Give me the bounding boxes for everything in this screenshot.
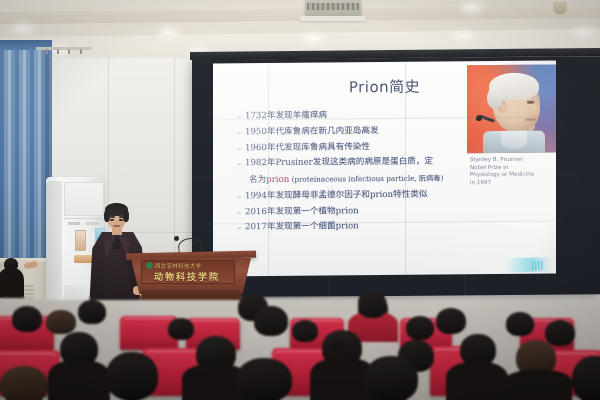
audience-head <box>436 308 466 334</box>
slide-watermark-bars <box>532 261 544 270</box>
audience-head <box>364 356 418 400</box>
portrait-nose <box>531 105 540 116</box>
air-conditioner-grille-icon <box>64 182 104 216</box>
bullet-text-continuation: 名为prion (proteinaceous infectious partic… <box>249 172 489 187</box>
audience-head <box>358 292 387 318</box>
slide-bullet-list: – 1732年发现羊瘙痒病 – 1950年代库鲁病在新几内亚岛高发 – 1960… <box>237 109 489 238</box>
screen-tile-seam <box>268 63 269 276</box>
bullet-text: 1994年发现酵母非孟德尔因子和prion特性类似 <box>245 189 489 203</box>
bullet-text-post: (proteinaceous infectious particle, 朊病毒) <box>289 174 443 184</box>
audience-shoulders <box>446 362 508 400</box>
bullet-text: 1960年代发现库鲁病具有传染性 <box>245 141 489 155</box>
ceiling-light <box>575 30 592 35</box>
bullet-dash-icon: – <box>237 127 241 139</box>
curtain-hook-icon <box>68 49 70 54</box>
bullet-text-pre: 名为 <box>249 175 266 185</box>
ceiling-light <box>160 30 177 35</box>
ceiling-light <box>305 36 322 41</box>
list-item: – 1960年代发现库鲁病具有传染性 <box>237 141 489 155</box>
list-item: – 1732年发现羊瘙痒病 <box>237 109 489 123</box>
audience-head <box>78 300 106 324</box>
audience-head <box>46 310 76 334</box>
speaker-hair-right <box>123 210 129 222</box>
audience-head <box>254 306 288 336</box>
curtain-hook-icon <box>57 49 59 54</box>
microphone-capsule-icon <box>174 236 179 241</box>
podium-college-name: 动物科技学院 <box>141 270 233 283</box>
bullet-dash-icon: – <box>237 143 241 155</box>
audience-head <box>506 312 534 336</box>
audience-head <box>545 320 575 346</box>
bullet-dash-icon: – <box>237 223 241 235</box>
audience-head <box>236 358 292 400</box>
audience-shoulders <box>48 360 110 400</box>
photo-caption: Stanley B. Prusiner Nobel Prize in Physi… <box>467 154 556 189</box>
bullet-dash-icon: – <box>237 159 241 171</box>
curtain-shading <box>0 40 52 290</box>
list-item: – 1950年代库鲁病在新几内亚岛高发 <box>237 125 489 139</box>
speaker-hair-left <box>104 210 110 222</box>
bullet-text: 2016年发现第一个植物prion <box>245 205 489 219</box>
portrait-hair-side <box>487 87 503 109</box>
list-item-continuation: 名为prion (proteinaceous infectious partic… <box>237 172 489 187</box>
slide-watermark <box>506 258 552 272</box>
university-crest-icon <box>146 262 153 269</box>
curtain-rail <box>36 47 92 50</box>
audience-head <box>106 352 158 400</box>
bullet-highlight-term: prion <box>266 175 289 185</box>
caption-line: in 1997 <box>470 179 556 187</box>
bullet-dash-icon: – <box>237 191 241 203</box>
audience-head <box>168 318 194 340</box>
audience-head <box>572 356 600 400</box>
air-conditioner-badge <box>68 222 80 225</box>
speaker-eye-left <box>110 219 114 221</box>
portrait-collar <box>501 131 527 149</box>
audience-head <box>12 306 42 332</box>
audience-shoulders <box>504 370 572 400</box>
curtain-hook-icon <box>46 49 48 54</box>
list-item: – 1982年Prusiner发现这类病的病原是蛋白质，定 <box>237 156 489 170</box>
podium-university-name: 西北农林科技大学 <box>155 262 227 270</box>
speaker-brow-left <box>110 216 115 218</box>
ceiling-light <box>14 26 31 31</box>
lecture-hall-photo: Prion简史 – 1732年发现羊瘙痒病 – 1950年代库鲁病在新几内亚岛高… <box>0 0 600 400</box>
prusiner-portrait-photo <box>467 65 556 154</box>
air-conditioner-side <box>46 181 62 307</box>
ceiling-beam <box>0 6 600 24</box>
presentation-slide[interactable]: Prion简史 – 1732年发现羊瘙痒病 – 1950年代库鲁病在新几内亚岛高… <box>213 61 556 277</box>
list-item: – 1994年发现酵母非孟德尔因子和prion特性类似 <box>237 189 489 203</box>
speaker-mouth <box>113 225 120 227</box>
air-conditioner-seam <box>64 218 102 219</box>
audience-head <box>292 320 318 342</box>
ceiling-light <box>455 33 472 38</box>
projector-mount-plate <box>300 16 366 21</box>
screen-tile-seam <box>405 62 406 275</box>
portrait-mouth <box>525 119 536 121</box>
bullet-text: 1732年发现羊瘙痒病 <box>245 109 489 123</box>
portrait-eye <box>527 101 534 104</box>
audience-arm-raised <box>330 340 346 362</box>
staff-person-body <box>0 268 24 298</box>
curtain-hook-icon <box>80 49 82 54</box>
bullet-text: 1950年代库鲁病在新几内亚岛高发 <box>245 125 489 139</box>
bullet-dash-icon: – <box>237 207 241 219</box>
list-item: – 2016年发现第一个植物prion <box>237 205 489 219</box>
air-conditioner-brand-label <box>86 222 99 225</box>
audience-head <box>0 366 48 400</box>
audience-head <box>406 316 434 340</box>
air-conditioner-sticker <box>75 230 86 251</box>
bullet-dash-icon: – <box>237 111 241 123</box>
ceiling-projector <box>305 0 361 17</box>
ceiling-light <box>463 5 480 10</box>
bullet-text: 1982年Prusiner发现这类病的病原是蛋白质，定 <box>245 156 489 170</box>
